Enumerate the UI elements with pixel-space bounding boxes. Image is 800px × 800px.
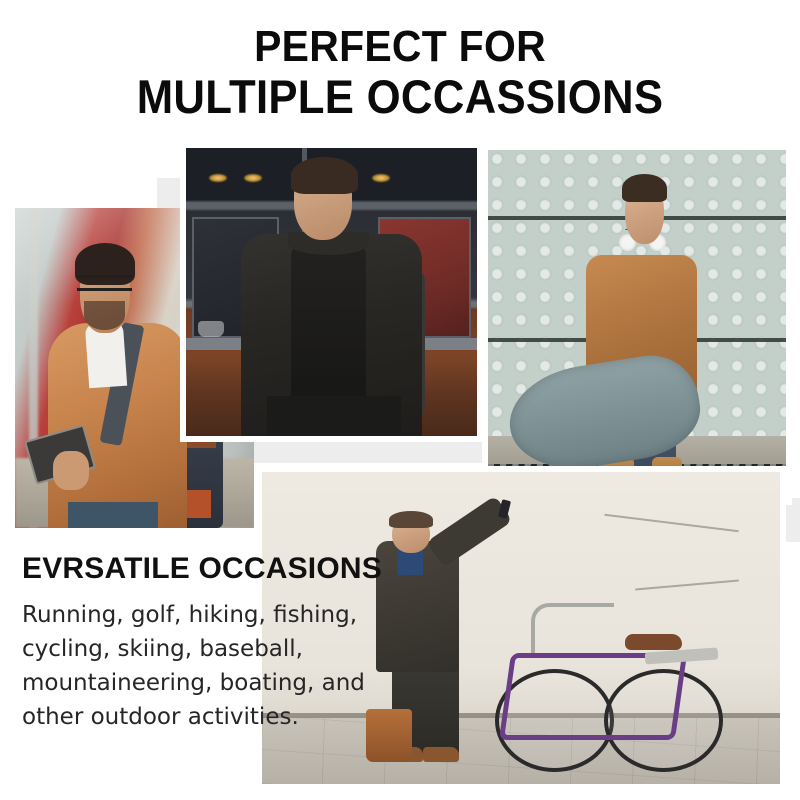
photo-man-black-bomber-storefront	[186, 148, 477, 436]
bicycle-saddle	[625, 634, 682, 650]
wall-crack-upper	[604, 514, 738, 532]
bicycle-handlebars	[531, 603, 614, 653]
shoe-right	[423, 747, 459, 763]
ceiling-lamp-1	[209, 174, 227, 182]
feature-description: Running, golf, hiking, fishing, cycling,…	[22, 598, 382, 734]
hair	[291, 157, 358, 194]
feature-copy-block: EVRSATILE OCCASIONS Running, golf, hikin…	[22, 552, 442, 734]
glass-cup	[198, 321, 224, 337]
page-title: PERFECT FOR MULTIPLE OCCASSIONS	[28, 22, 772, 122]
bicycle-frame	[499, 653, 687, 740]
headline-line-1: PERFECT FOR	[28, 22, 772, 72]
feature-title: EVRSATILE OCCASIONS	[22, 552, 442, 586]
black-pants	[267, 396, 401, 436]
eyeglasses	[77, 275, 132, 291]
wall-crack-lower	[635, 580, 738, 591]
ceiling-lamp-2	[244, 174, 262, 182]
hair	[389, 511, 433, 528]
beard	[84, 301, 125, 330]
photo-man-guitar-case-dotted-wall	[488, 150, 786, 499]
black-tshirt	[291, 240, 367, 401]
ceiling-lamp-3	[372, 174, 390, 182]
jeans	[68, 502, 159, 528]
hair	[622, 174, 667, 202]
headline-line-2: MULTIPLE OCCASSIONS	[28, 72, 772, 122]
decor-gray-block-middle-lower	[254, 435, 486, 463]
promo-poster: PERFECT FOR MULTIPLE OCCASSIONS	[0, 0, 800, 800]
photo-scene-storefront	[186, 148, 477, 436]
photo-scene-dimpled-wall	[488, 150, 786, 499]
hand	[53, 451, 89, 489]
